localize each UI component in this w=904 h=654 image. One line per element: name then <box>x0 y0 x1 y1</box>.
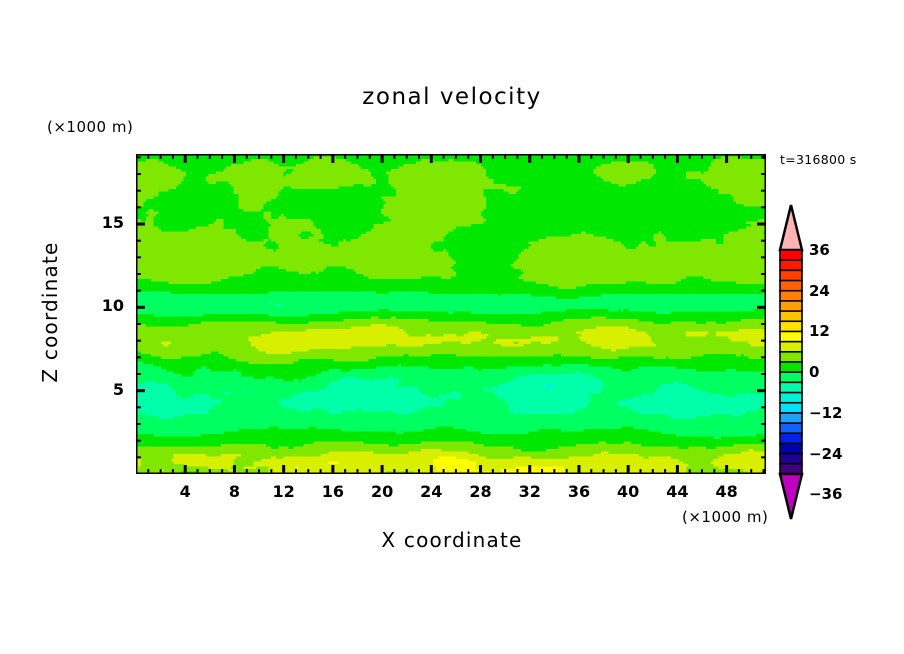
x-axis-unit-label: (×1000 m) <box>682 508 768 526</box>
y-axis-label: Z coordinate <box>38 222 62 402</box>
timestamp-annotation: t=316800 s <box>780 152 857 167</box>
x-tick-label: 36 <box>559 482 599 501</box>
contour-plot-panel <box>136 154 766 474</box>
x-tick-label: 28 <box>461 482 501 501</box>
contour-field <box>136 154 766 474</box>
y-tick-label: 5 <box>84 380 124 399</box>
x-tick-label: 8 <box>214 482 254 501</box>
page-title: zonal velocity <box>0 84 904 110</box>
x-tick-label: 16 <box>313 482 353 501</box>
x-tick-label: 20 <box>362 482 402 501</box>
x-tick-label: 4 <box>165 482 205 501</box>
y-axis-unit-label: (×1000 m) <box>47 118 133 136</box>
colorbar-tick-label: −24 <box>809 445 842 463</box>
y-tick-label: 15 <box>84 213 124 232</box>
x-tick-label: 12 <box>264 482 304 501</box>
colorbar-tick-label: 0 <box>809 363 819 381</box>
x-tick-label: 32 <box>510 482 550 501</box>
x-tick-label: 48 <box>707 482 747 501</box>
colorbar-tick-label: −12 <box>809 404 842 422</box>
x-tick-label: 24 <box>411 482 451 501</box>
x-axis-label: X coordinate <box>0 528 904 552</box>
colorbar-tick-label: 24 <box>809 282 830 300</box>
y-tick-label: 10 <box>84 296 124 315</box>
x-tick-label: 40 <box>608 482 648 501</box>
colorbar-tick-label: 36 <box>809 241 830 259</box>
x-tick-label: 44 <box>657 482 697 501</box>
colorbar-tick-label: −36 <box>809 485 842 503</box>
colorbar-tick-label: 12 <box>809 322 830 340</box>
